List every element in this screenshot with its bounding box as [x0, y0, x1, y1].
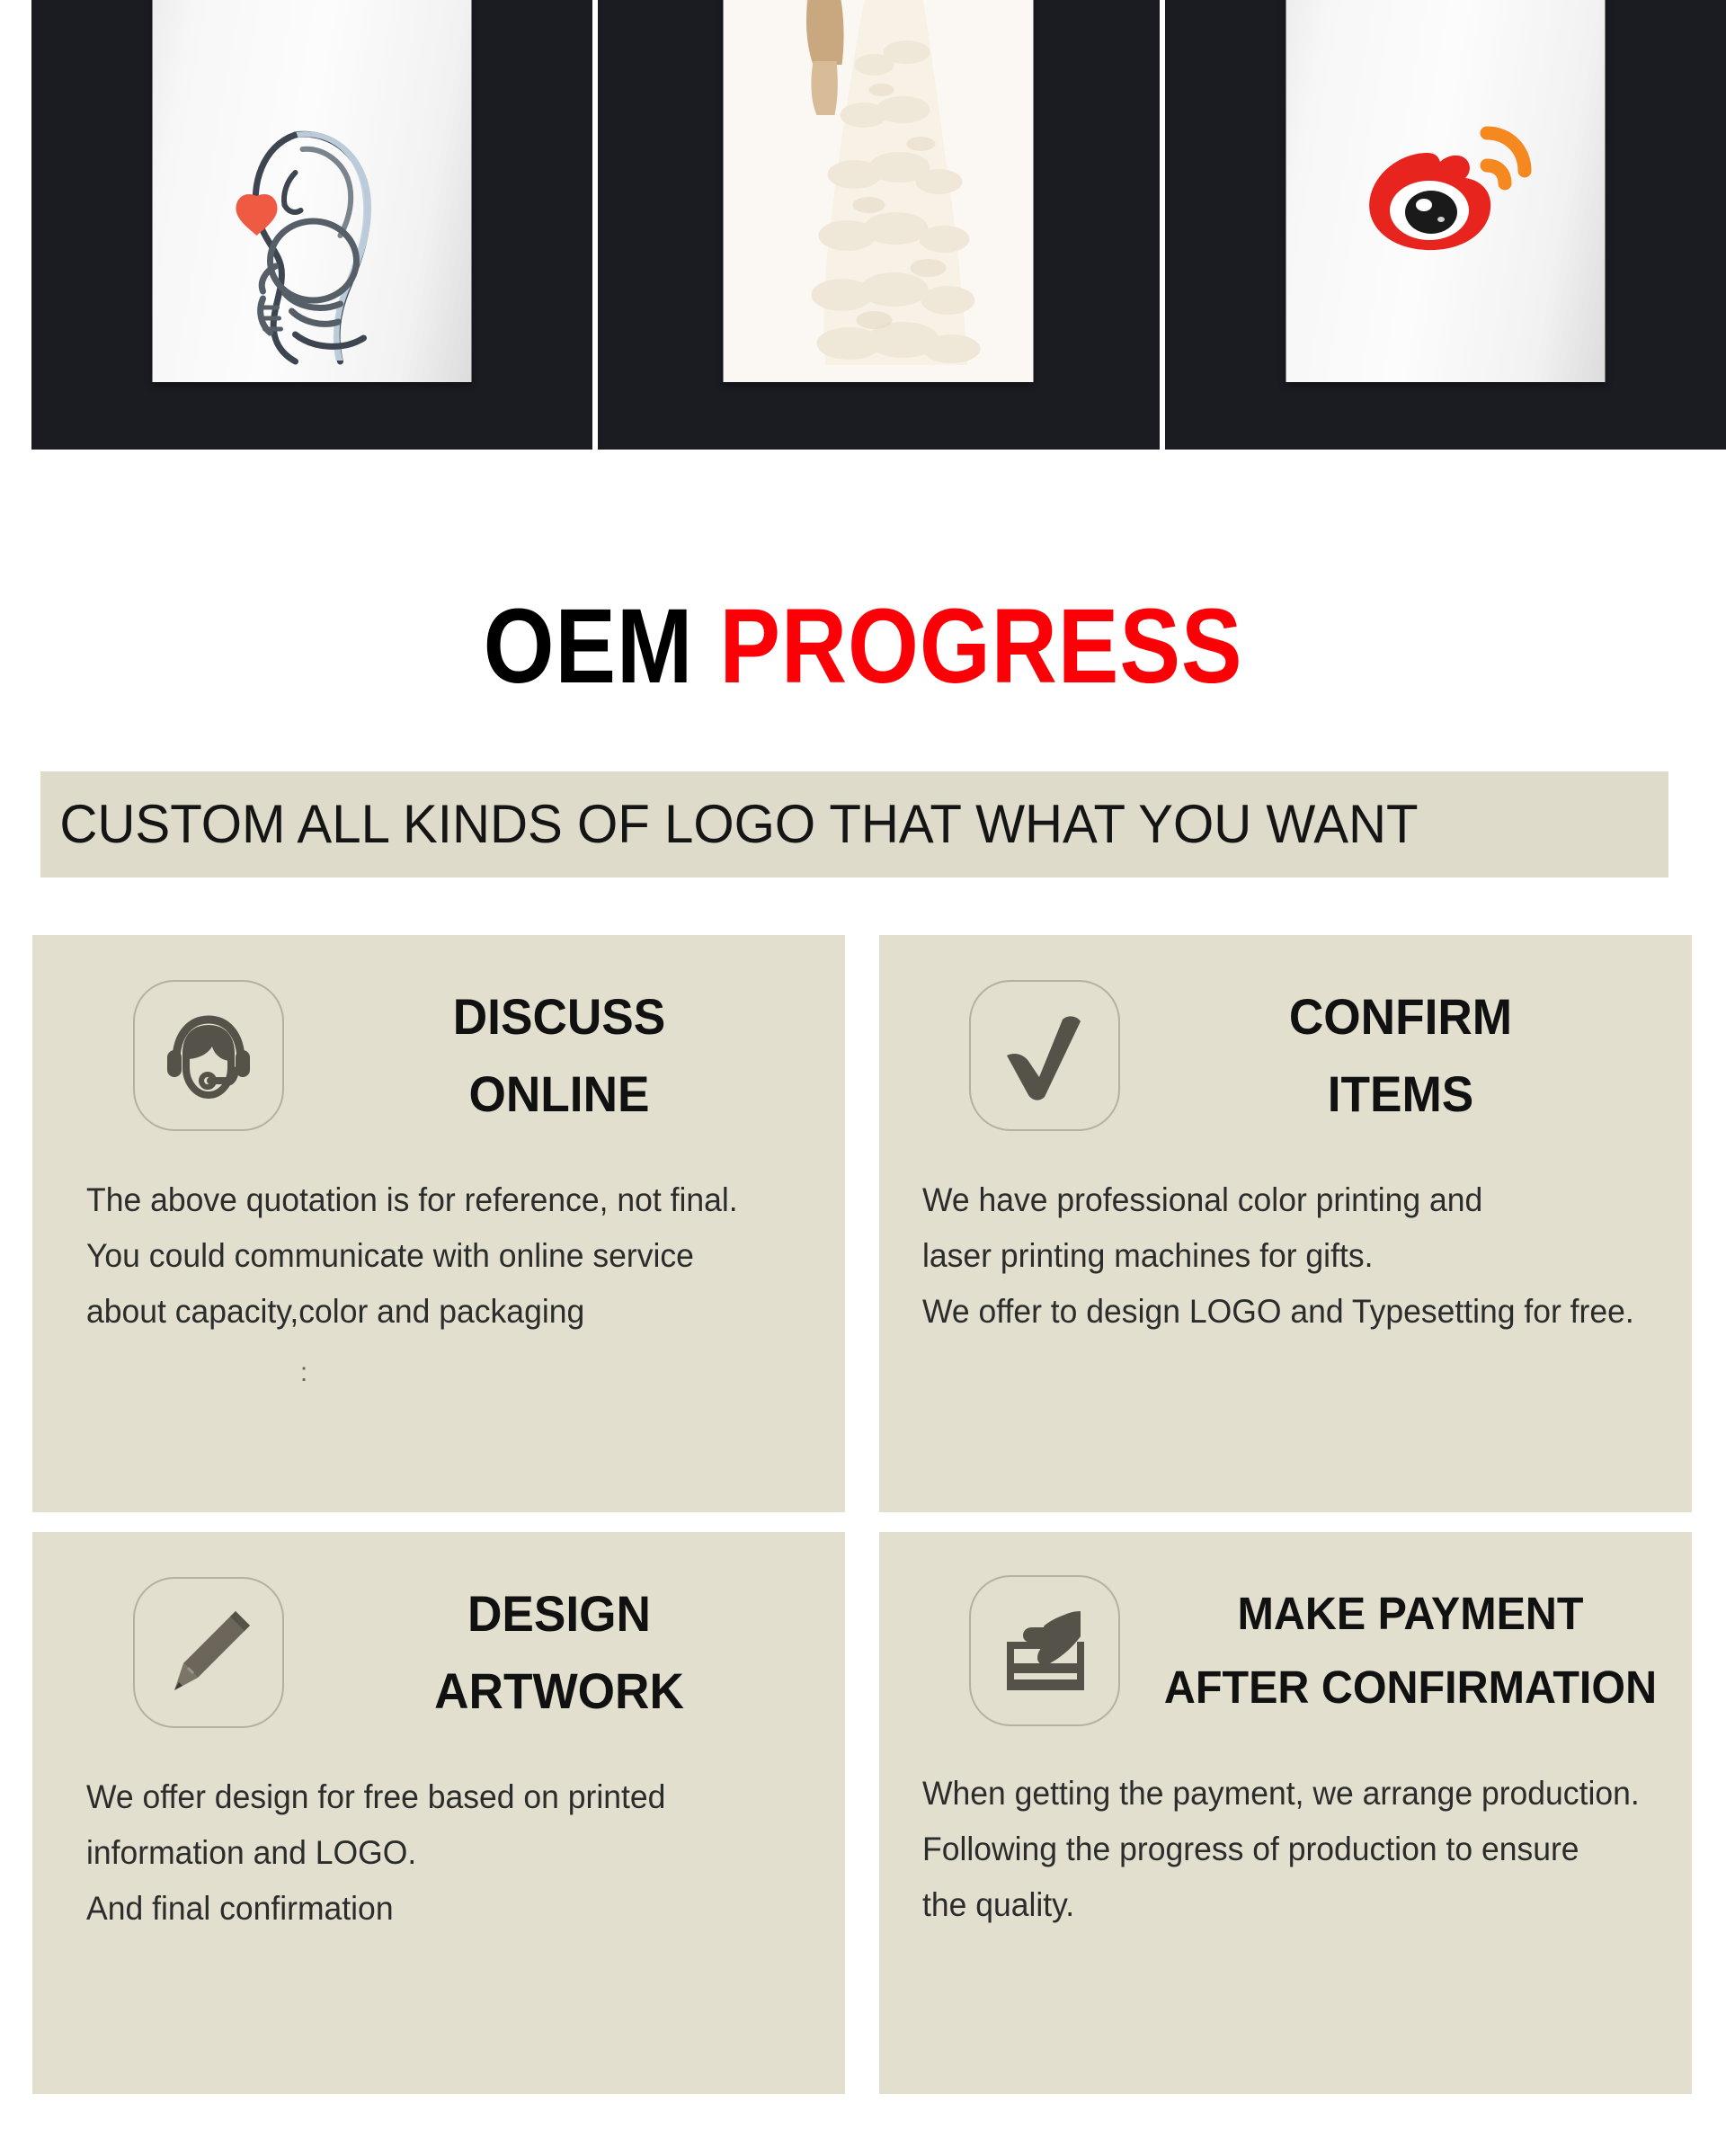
card-body-line: Following the progress of production to … — [922, 1822, 1626, 1877]
headset-support-icon — [158, 1005, 259, 1106]
bride-photo — [724, 0, 1034, 382]
card-body-line: We have professional color printing and — [922, 1172, 1626, 1228]
card-title: MAKE PAYMENT AFTER CONFIRMATION — [1145, 1577, 1692, 1724]
card-body-line: information and LOGO. — [86, 1825, 780, 1881]
progress-card-discuss-online[interactable]: DISCUSS ONLINE The above quotation is fo… — [32, 935, 845, 1512]
card-title: DISCUSS ONLINE — [309, 978, 845, 1133]
pencil-icon — [158, 1602, 259, 1703]
subtitle-banner-text: CUSTOM ALL KINDS OF LOGO THAT WHAT YOU W… — [40, 797, 1419, 851]
card-title-line2: AFTER CONFIRMATION — [1159, 1651, 1663, 1724]
gallery-panel-weibo[interactable] — [1165, 0, 1726, 450]
card-header: CONFIRM ITEMS — [879, 935, 1692, 1133]
card-title-line1: DESIGN — [322, 1575, 796, 1653]
page-title-black: OEM — [484, 587, 720, 706]
card-body-line: You could communicate with online servic… — [86, 1228, 780, 1284]
icon-frame — [969, 980, 1120, 1131]
photo-frame — [724, 0, 1034, 382]
photo-frame — [1286, 0, 1605, 382]
card-title-line1: CONFIRM — [1158, 978, 1643, 1056]
icon-frame — [969, 1575, 1120, 1726]
card-body-line: And final confirmation — [86, 1881, 780, 1937]
card-body-line: about capacity,color and packaging — [86, 1284, 780, 1340]
card-body-line: We offer design for free based on printe… — [86, 1769, 780, 1825]
card-body-line: the quality. — [922, 1877, 1626, 1933]
icon-frame — [133, 1577, 284, 1728]
card-body-trailing: : — [86, 1359, 809, 1386]
subtitle-banner: CUSTOM ALL KINDS OF LOGO THAT WHAT YOU W… — [40, 771, 1668, 878]
progress-card-design-artwork[interactable]: DESIGN ARTWORK We offer design for free … — [32, 1532, 845, 2094]
card-title-line2: ITEMS — [1158, 1056, 1643, 1133]
photo-frame — [153, 0, 472, 382]
card-header: MAKE PAYMENT AFTER CONFIRMATION — [879, 1532, 1692, 1726]
hand-card-payment-icon — [994, 1600, 1095, 1701]
card-title-line2: ONLINE — [322, 1056, 796, 1133]
progress-card-make-payment[interactable]: MAKE PAYMENT AFTER CONFIRMATION When get… — [879, 1532, 1692, 2094]
card-body: The above quotation is for reference, no… — [86, 1172, 845, 1386]
card-body-line: We offer to design LOGO and Typesetting … — [922, 1284, 1626, 1340]
product-gallery — [31, 0, 1726, 450]
icon-frame — [133, 980, 284, 1131]
progress-card-grid: DISCUSS ONLINE The above quotation is fo… — [32, 935, 1692, 2094]
gallery-panel-bride[interactable] — [598, 0, 1159, 450]
card-body-line: laser printing machines for gifts. — [922, 1228, 1626, 1284]
card-body-line: The above quotation is for reference, no… — [86, 1172, 780, 1228]
page-title: OEM PROGRESS — [120, 593, 1605, 699]
mother-baby-line-art-icon — [209, 108, 415, 369]
checkmark-icon — [994, 1005, 1095, 1106]
card-body: When getting the payment, we arrange pro… — [922, 1766, 1692, 1933]
card-body-line: When getting the payment, we arrange pro… — [922, 1766, 1626, 1822]
card-title-line1: MAKE PAYMENT — [1159, 1577, 1663, 1651]
card-title: DESIGN ARTWORK — [309, 1575, 845, 1730]
card-header: DESIGN ARTWORK — [32, 1532, 845, 1730]
card-title-line1: DISCUSS — [322, 978, 796, 1056]
card-title: CONFIRM ITEMS — [1145, 978, 1692, 1133]
oem-progress-page: OEM PROGRESS CUSTOM ALL KINDS OF LOGO TH… — [0, 0, 1726, 2156]
weibo-eye-logo-icon — [1357, 126, 1533, 261]
card-body: We have professional color printing and … — [922, 1172, 1692, 1340]
card-title-line2: ARTWORK — [322, 1653, 796, 1730]
progress-card-confirm-items[interactable]: CONFIRM ITEMS We have professional color… — [879, 935, 1692, 1512]
card-body: We offer design for free based on printe… — [86, 1769, 845, 1937]
gallery-panel-mother-baby[interactable] — [31, 0, 592, 450]
page-title-red: PROGRESS — [719, 587, 1242, 706]
card-header: DISCUSS ONLINE — [32, 935, 845, 1133]
